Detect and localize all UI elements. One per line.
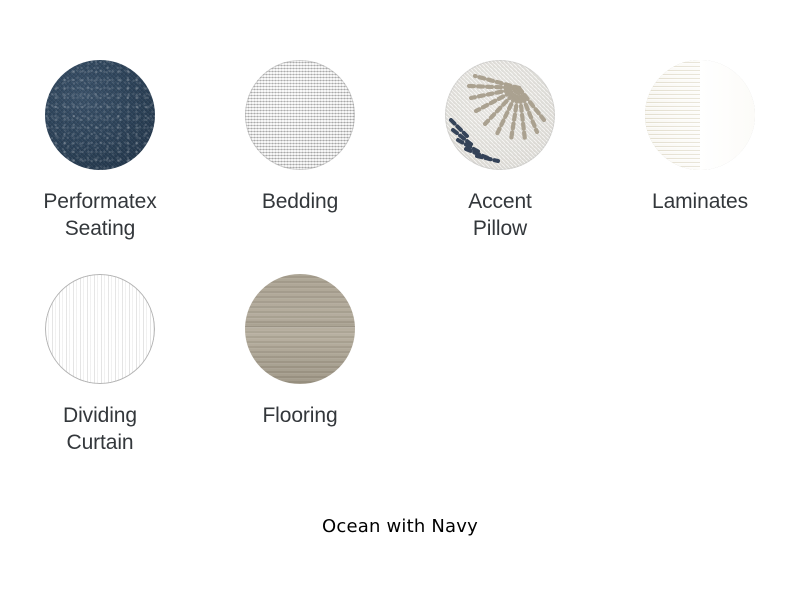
accent-pillow-swatch[interactable] (445, 60, 555, 170)
swatch-item-bedding[interactable]: Bedding (200, 60, 400, 242)
palette-caption: Ocean with Navy (0, 516, 800, 537)
palette-board: Performatex Seating Bedding (0, 0, 800, 600)
swatch-row-1: Performatex Seating Bedding (0, 60, 800, 242)
swatch-label-laminates: Laminates (652, 188, 748, 215)
laminate-white-half (700, 60, 755, 170)
flooring-swatch[interactable] (245, 274, 355, 384)
swatch-item-dividing-curtain[interactable]: Dividing Curtain (0, 274, 200, 456)
swatch-label-performatex-seating: Performatex Seating (43, 188, 156, 242)
swatch-circle-wrap (445, 60, 555, 170)
swatch-item-performatex-seating[interactable]: Performatex Seating (0, 60, 200, 242)
swatch-circle-wrap (245, 60, 355, 170)
swatch-label-dividing-curtain: Dividing Curtain (63, 402, 137, 456)
swatch-circle-wrap (45, 274, 155, 384)
swatch-circle-wrap (645, 60, 755, 170)
swatch-item-laminates[interactable]: Laminates (600, 60, 800, 242)
swatch-label-accent-pillow: Accent Pillow (468, 188, 532, 242)
plank-seam (245, 326, 355, 328)
sunburst-pattern-icon (445, 60, 555, 170)
swatch-label-bedding: Bedding (262, 188, 338, 215)
navy-fabric-swatch[interactable] (45, 60, 155, 170)
bedding-fabric-swatch[interactable] (245, 60, 355, 170)
swatch-row-2: Dividing Curtain Flooring (0, 274, 800, 456)
swatch-circle-wrap (245, 274, 355, 384)
swatch-label-flooring: Flooring (262, 402, 337, 429)
swatch-item-flooring[interactable]: Flooring (200, 274, 400, 456)
laminate-swatch[interactable] (645, 60, 755, 170)
dividing-curtain-swatch[interactable] (45, 274, 155, 384)
swatch-circle-wrap (45, 60, 155, 170)
swatch-item-accent-pillow[interactable]: Accent Pillow (400, 60, 600, 242)
swatch-grid: Performatex Seating Bedding (0, 60, 800, 456)
laminate-cream-half (645, 60, 700, 170)
